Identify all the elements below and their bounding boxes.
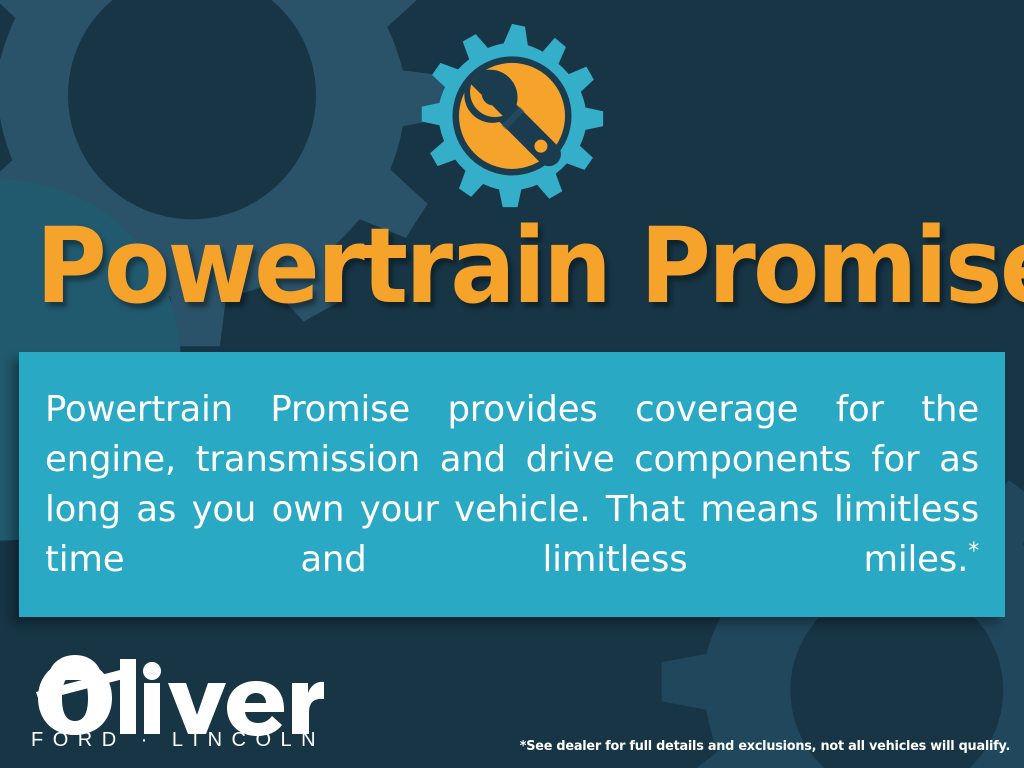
- logo-subtitle: FORD · LINCOLN: [31, 729, 325, 752]
- page-title: Powertrain Promise: [36, 214, 988, 318]
- disclaimer-text: *See dealer for full details and exclusi…: [520, 738, 1010, 754]
- promotional-graphic: Powertrain Promise Powertrain Promise pr…: [0, 0, 1024, 768]
- gear-wrench-icon: [419, 22, 605, 208]
- description-text: Powertrain Promise provides coverage for…: [45, 385, 979, 635]
- footnote-asterisk: *: [968, 539, 979, 564]
- dealer-logo: FORD · LINCOLN: [28, 643, 328, 755]
- description-sentence: Powertrain Promise provides coverage for…: [45, 389, 979, 580]
- description-panel: Powertrain Promise provides coverage for…: [19, 352, 1005, 617]
